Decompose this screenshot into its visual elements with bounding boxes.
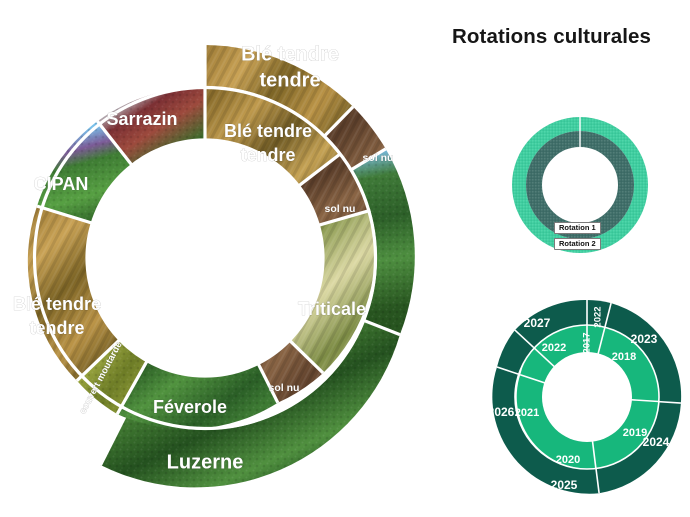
outer-label-luzerne: Luzerne (167, 451, 244, 473)
inner-label-ble-tendre-2-line2: tendre (29, 318, 84, 338)
rotation-ring-inner[interactable] (534, 139, 626, 231)
outer-label-sol-nu: sol nu (363, 152, 394, 164)
inner-label-sol-nu-1: sol nu (325, 203, 356, 215)
years-donut-chart: 2022 2023 2024 2025 2026 2027 2017 2018 … (487, 295, 687, 500)
inner-label-ble-tendre-2: Blé tendre (13, 294, 101, 314)
years-inner-label-2017: 2017 (582, 332, 593, 353)
crop-rotation-wheel: Blé tendre sol nu Luzerne Blé tendre sol… (0, 0, 440, 517)
years-outer-label-2022: 2022 (593, 306, 604, 327)
years-inner-label-2019: 2019 (623, 427, 647, 439)
page-root: Blé tendre sol nu Luzerne Blé tendre sol… (0, 0, 690, 517)
years-inner-hole (542, 352, 632, 442)
page-title: Rotations culturales (452, 25, 682, 49)
inner-label-triticale: Triticale (298, 299, 366, 319)
inner-label-ble-tendre-1: Blé tendre (224, 121, 312, 141)
inner-label-sol-nu-2: sol nu (269, 382, 300, 394)
years-outer-label-2025: 2025 (551, 478, 578, 492)
crop-wheel-svg: Blé tendre sol nu Luzerne Blé tendre sol… (0, 0, 440, 517)
rotation-1-label: Rotation 1 (554, 222, 601, 234)
years-inner-label-2022: 2022 (542, 342, 566, 354)
inner-label-feverole: Féverole (153, 397, 227, 417)
years-inner-label-2021: 2021 (515, 407, 539, 419)
years-outer-label-2023: 2023 (631, 332, 658, 346)
rotation-2-label: Rotation 2 (554, 238, 601, 250)
inner-label-ble-tendre-1-line2: tendre (240, 145, 295, 165)
outer-label-ble-tendre-line1: Blé tendre (241, 43, 339, 65)
inner-label-sarrazin: Sarrazin (106, 109, 177, 129)
outer-label-ble-tendre-line2: tendre (259, 69, 320, 91)
years-inner-label-2018: 2018 (612, 351, 636, 363)
inner-label-cipan: CIPAN (34, 174, 89, 194)
years-outer-label-2026: 2026 (488, 405, 515, 419)
years-inner-label-2020: 2020 (556, 454, 580, 466)
years-outer-label-2027: 2027 (524, 316, 551, 330)
years-donut-svg: 2022 2023 2024 2025 2026 2027 2017 2018 … (487, 295, 687, 500)
